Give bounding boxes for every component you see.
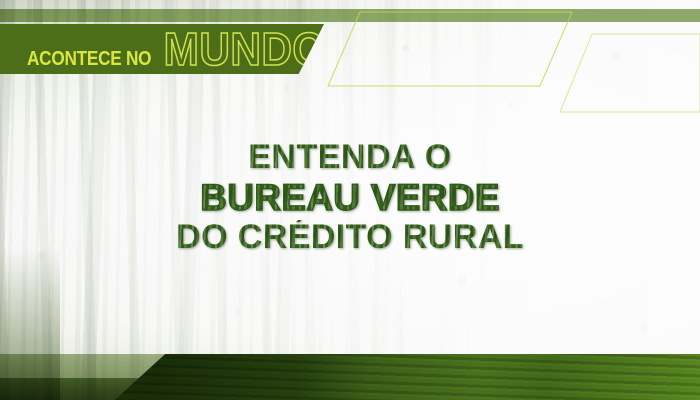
news-banner-graphic: ACONTECE NO MUNDO ENTENDA O BUREAU VERDE… xyxy=(0,0,700,400)
bottom-left-shadow xyxy=(0,0,60,400)
kicker-large-label: MUNDO xyxy=(164,26,326,72)
headline-line-2: BUREAU VERDE xyxy=(0,179,700,217)
headline-line-1: ENTENDA O xyxy=(0,140,700,175)
top-accent-stripe xyxy=(0,9,700,22)
headline-block: ENTENDA O BUREAU VERDE DO CRÉDITO RURAL xyxy=(0,140,700,255)
headline-line-3: DO CRÉDITO RURAL xyxy=(0,220,700,255)
